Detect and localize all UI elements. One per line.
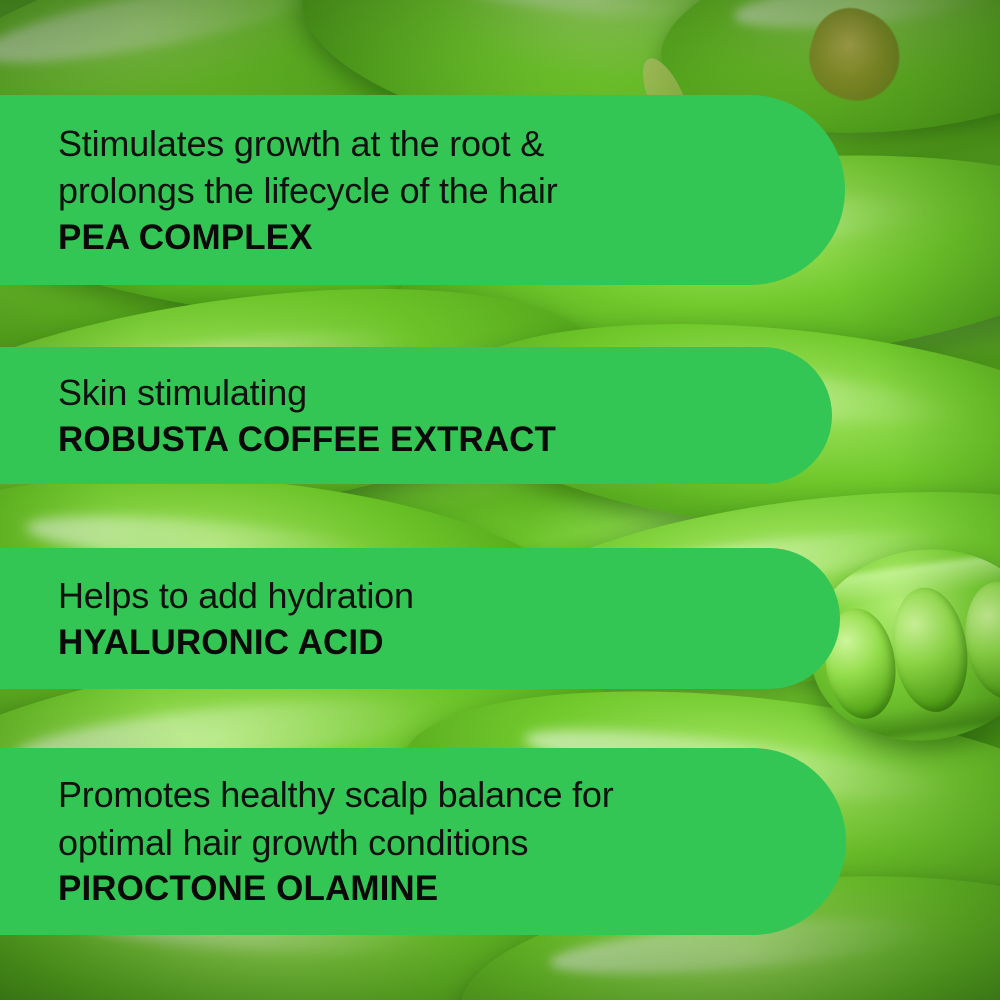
ingredient-name: PEA COMPLEX	[58, 215, 785, 261]
ingredient-name: ROBUSTA COFFEE EXTRACT	[58, 417, 772, 463]
dried-calyx-shape	[798, 0, 911, 112]
ingredient-name: PIROCTONE OLAMINE	[58, 866, 786, 912]
benefit-text-line: Promotes healthy scalp balance for	[58, 771, 786, 819]
benefit-text-line: optimal hair growth conditions	[58, 819, 786, 867]
benefit-text-line: prolongs the lifecycle of the hair	[58, 167, 785, 215]
benefit-banner: Helps to add hydration HYALURONIC ACID	[0, 548, 840, 689]
benefit-text-line: Skin stimulating	[58, 369, 772, 417]
product-benefits-infographic: Stimulates growth at the root & prolongs…	[0, 0, 1000, 1000]
benefit-banner: Stimulates growth at the root & prolongs…	[0, 95, 845, 285]
benefit-banner: Skin stimulating ROBUSTA COFFEE EXTRACT	[0, 347, 832, 484]
benefit-text-line: Stimulates growth at the root &	[58, 120, 785, 168]
benefit-text-line: Helps to add hydration	[58, 572, 780, 620]
benefit-banner: Promotes healthy scalp balance for optim…	[0, 748, 846, 935]
ingredient-name: HYALURONIC ACID	[58, 620, 780, 666]
pea-seed	[885, 583, 975, 717]
